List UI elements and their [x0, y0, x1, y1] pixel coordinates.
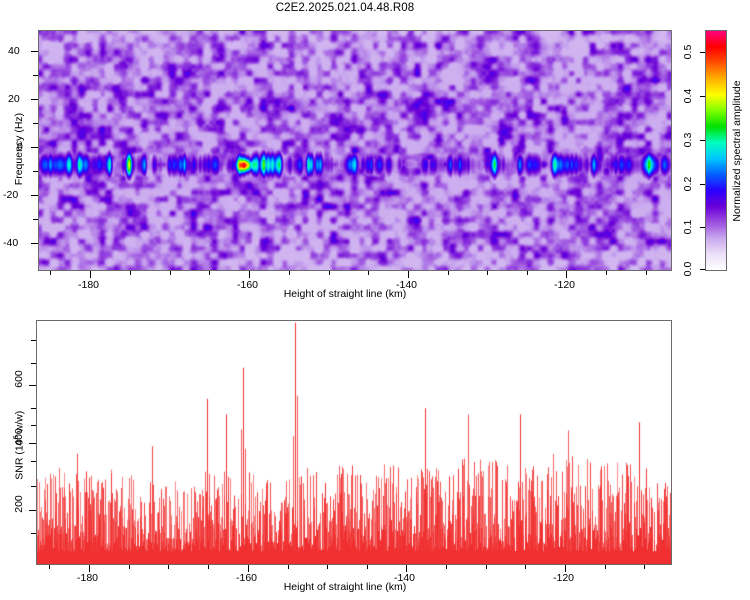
snr-xtick-minor-11: [605, 565, 606, 569]
spectrogram-xtick-minor-12: [646, 271, 647, 275]
spectrogram-ytick-0: [31, 147, 38, 148]
snr-plot: [36, 320, 672, 565]
snr-ytick-minor-5: [31, 461, 36, 462]
snr-xaxis-title: Height of straight line (km): [0, 581, 690, 593]
snr-yaxis-title: SNR (106 w/w): [11, 385, 26, 505]
colorbar-tick-0.5: [700, 52, 705, 53]
colorbar-title: Normalized spectral amplitude: [731, 76, 743, 226]
page-title: C2E2.2025.021.04.48.R08: [0, 2, 690, 14]
snr-ytick-minor-6: [31, 486, 36, 487]
snr-xtick-neg120: [565, 565, 566, 572]
snr-yaxis-title-exponent: 6: [11, 435, 20, 439]
spectrogram-ytick-label-40: 40: [8, 45, 20, 57]
spectrogram-ytick-20: [31, 99, 38, 100]
spectrogram-ytick-minor-30: [33, 75, 38, 76]
spectrogram-xtick-minor-3: [170, 271, 171, 275]
colorbar-tick-label-0.2: 0.2: [682, 172, 694, 196]
colorbar-tick-0.0: [700, 269, 705, 270]
snr-ytick-minor-4: [31, 425, 36, 426]
spectrogram-ytick-minor-neg10: [33, 171, 38, 172]
spectrogram-xtick-neg140: [408, 271, 409, 278]
snr-xtick-minor-5: [288, 565, 289, 569]
snr-xtick-neg180: [89, 565, 90, 572]
colorbar-tick-label-0.1: 0.1: [682, 215, 694, 239]
spectrogram-ytick-neg20: [31, 195, 38, 196]
colorbar-tick-label-0.3: 0.3: [682, 128, 694, 152]
colorbar-tick-0.4: [700, 96, 705, 97]
spectrogram-ytick-minor-neg30: [33, 219, 38, 220]
snr-xtick-minor-8: [446, 565, 447, 569]
snr-ytick-minor-1: [31, 340, 36, 341]
snr-ytick-200: [29, 510, 36, 511]
spectrogram-xtick-neg180: [90, 271, 91, 278]
snr-xtick-minor-9: [486, 565, 487, 569]
snr-yaxis-title-prefix: SNR (10: [13, 439, 25, 479]
snr-xtick-minor-2: [129, 565, 130, 569]
spectrogram-ytick-40: [31, 51, 38, 52]
spectrogram-xtick-minor-4: [209, 271, 210, 275]
spectrogram-xtick-minor-10: [527, 271, 528, 275]
spectrogram-xtick-minor-7: [368, 271, 369, 275]
snr-trace: [37, 321, 671, 564]
spectrogram-plot: [38, 30, 672, 271]
spectrogram-xtick-minor-6: [329, 271, 330, 275]
spectrogram-xtick-neg160: [249, 271, 250, 278]
snr-xtick-minor-3: [168, 565, 169, 569]
snr-ytick-minor-3: [31, 408, 36, 409]
spectrogram-yaxis-title: Frequency (Hz): [13, 99, 25, 199]
spectrogram-ytick-label-neg40: -40: [3, 237, 18, 249]
snr-yaxis-title-suffix: w/w): [13, 411, 25, 436]
spectrogram-xaxis-title: Height of straight line (km): [0, 288, 690, 300]
spectrogram-xtick-minor-8: [448, 271, 449, 275]
snr-xtick-minor-10: [525, 565, 526, 569]
spectrogram-ytick-neg40: [31, 243, 38, 244]
snr-xtick-minor-6: [327, 565, 328, 569]
snr-xtick-minor-1: [49, 565, 50, 569]
colorbar-tick-label-0.4: 0.4: [682, 84, 694, 108]
snr-ytick-minor-7: [31, 533, 36, 534]
colorbar-tick-0.1: [700, 227, 705, 228]
colorbar-gradient: [706, 31, 726, 270]
spectrogram-ytick-minor-10: [33, 123, 38, 124]
snr-xtick-minor-4: [208, 565, 209, 569]
spectrogram-xtick-minor-9: [487, 271, 488, 275]
snr-xtick-minor-12: [644, 565, 645, 569]
snr-xtick-neg140: [406, 565, 407, 572]
snr-ytick-400: [29, 443, 36, 444]
snr-xtick-neg160: [248, 565, 249, 572]
colorbar-tick-label-0.5: 0.5: [682, 40, 694, 64]
spectrogram-xtick-minor-5: [289, 271, 290, 275]
snr-ytick-minor-2: [31, 363, 36, 364]
colorbar-tick-0.3: [700, 140, 705, 141]
snr-ytick-600: [29, 385, 36, 386]
spectrogram-xtick-minor-1: [50, 271, 51, 275]
colorbar-tick-0.2: [700, 184, 705, 185]
spectrogram-xtick-minor-11: [606, 271, 607, 275]
figure-root: C2E2.2025.021.04.48.R08 40 20 0 -20 -40 …: [0, 0, 750, 600]
spectrogram-xtick-minor-2: [130, 271, 131, 275]
spectrogram-image: [39, 31, 671, 270]
colorbar-tick-label-0.0: 0.0: [682, 257, 694, 281]
spectrogram-xtick-neg120: [566, 271, 567, 278]
snr-xtick-minor-7: [367, 565, 368, 569]
colorbar: [705, 30, 727, 271]
